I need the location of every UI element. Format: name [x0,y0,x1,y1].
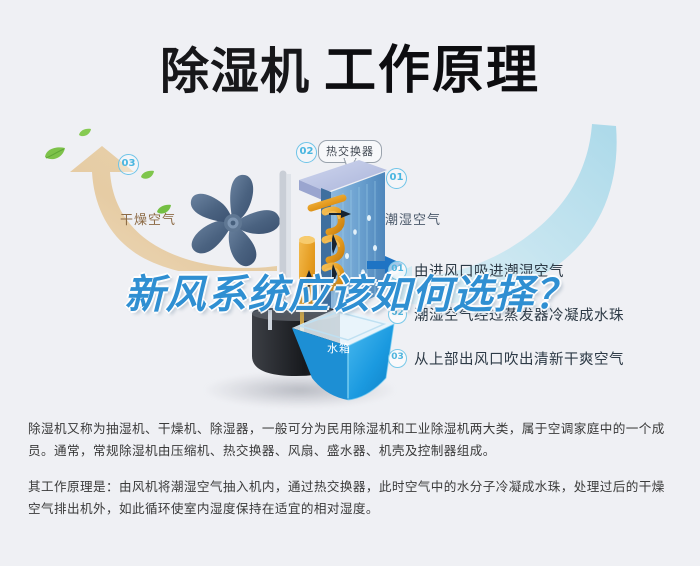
body-paragraph-1: 除湿机又称为抽湿机、干燥机、除湿器，一般可分为民用除湿机和工业除湿机两大类，属于… [28,418,676,462]
page-title: 除湿机工作原理 [0,28,700,103]
label-water-tank: 水箱 [327,340,351,356]
overlay-headline: 新风系统应该如何选择？ [0,262,700,320]
body-paragraph-2: 其工作原理是：由风机将潮湿空气抽入机内，通过热交换器，此时空气中的水分子冷凝成水… [28,476,676,520]
page-title-part1: 除湿机 [160,43,310,100]
leaf-icon [78,128,92,139]
step-label: 从上部出风口吹出清新干爽空气 [414,348,624,369]
leaf-icon [44,146,66,162]
page-title-part2: 工作原理 [324,41,540,101]
badge-dry-air: 03 [118,154,139,175]
poster-root: 除湿机工作原理 [0,0,700,566]
label-dry-air: 干燥空气 [120,209,176,228]
label-humid-air: 潮湿空气 [385,209,441,228]
step-number: 03 [388,349,407,368]
list-item: 03 从上部出风口吹出清新干爽空气 [388,336,688,380]
body-copy: 除湿机又称为抽湿机、干燥机、除湿器，一般可分为民用除湿机和工业除湿机两大类，属于… [28,418,676,520]
overlay-headline-text: 新风系统应该如何选择？ [125,262,576,320]
leaf-icon [140,170,155,181]
